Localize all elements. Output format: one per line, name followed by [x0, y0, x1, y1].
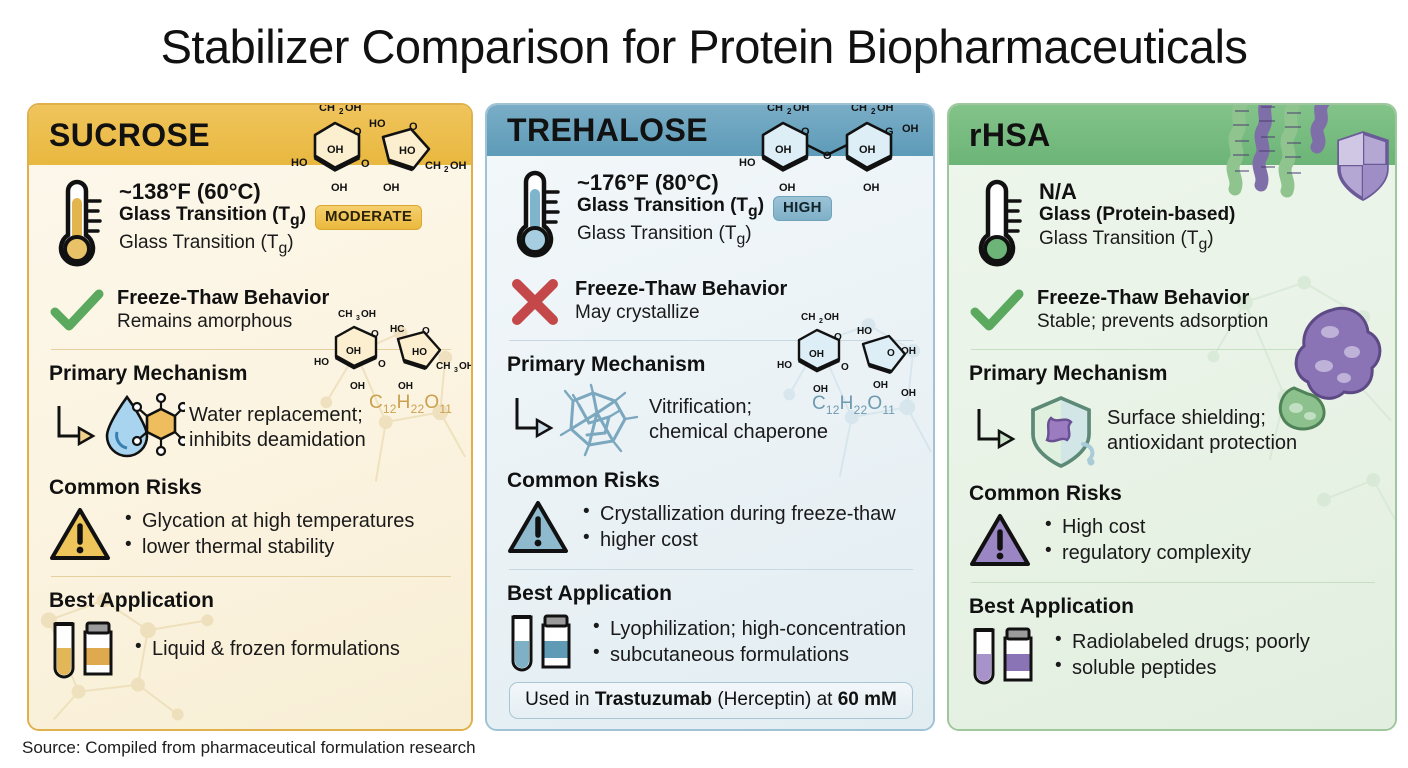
risks-row: Crystallization during freeze-thaw highe… [507, 499, 915, 555]
svg-text:CH: CH [851, 103, 867, 114]
svg-text:OH: OH [793, 103, 810, 114]
water-drop-sugar-icon [101, 392, 185, 464]
application-list: Radiolabeled drugs; poorly soluble pepti… [1055, 629, 1310, 681]
glass-transition-sublabel: Glass Transition (Tg) [119, 231, 453, 259]
glass-transition-label: Glass Transition (Tg) [577, 195, 764, 222]
mechanism-heading: Primary Mechanism [49, 362, 453, 386]
status-badge: MODERATE [315, 205, 422, 230]
svg-text:G: G [885, 126, 894, 138]
card-rhsa: rHSA [947, 103, 1397, 731]
svg-text:OH: OH [327, 144, 344, 156]
glass-transition-sublabel: Glass Transition (Tg) [1039, 227, 1377, 255]
check-icon [49, 287, 105, 335]
mechanism-line-2: inhibits deamidation [189, 428, 366, 453]
callout-drug-name: Trastuzumab [595, 689, 712, 710]
glass-transition-row: N/A Glass (Protein-based) Glass Transiti… [969, 179, 1377, 271]
svg-text:OH: OH [345, 103, 362, 114]
card-header-trehalose: TREHALOSE CH2OH CH2OH OGOH OHOH HOO OHOH [487, 105, 933, 156]
card-title: TREHALOSE [507, 112, 708, 149]
glass-transition-value: ~138°F (60°C) [119, 179, 453, 204]
glass-transition-label-row: Glass (Protein-based) [1039, 204, 1377, 227]
mechanism-line-1: Surface shielding; [1107, 406, 1297, 431]
application-list: Lyophilization; high-concentration subcu… [593, 616, 906, 668]
list-item-continuation: subcutaneous formulations [593, 642, 906, 668]
section-divider [51, 576, 451, 577]
check-icon [969, 287, 1025, 335]
freeze-thaw-desc: Stable; prevents adsorption [1037, 310, 1377, 334]
list-item: regulatory complexity [1045, 540, 1251, 566]
callout-prefix: Used in [525, 689, 595, 710]
card-title: SUCROSE [49, 117, 210, 154]
shield-protein-icon [1021, 392, 1103, 470]
svg-text:CH: CH [319, 103, 335, 114]
mechanism-line-1: Water replacement; [189, 403, 366, 428]
callout-middle: (Herceptin) at [712, 689, 838, 710]
mechanism-line-2: chemical chaperone [649, 420, 828, 445]
glass-transition-row: ~176°F (80°C) Glass Transition (Tg) HIGH… [507, 170, 915, 262]
chemical-formula: C12H22O11 [812, 393, 895, 417]
mechanism-line-1: Vitrification; [649, 395, 828, 420]
card-body-sucrose: ~138°F (60°C) Glass Transition (Tg) MODE… [29, 165, 471, 729]
section-divider [51, 349, 451, 350]
mechanism-text: Vitrification; chemical chaperone [649, 395, 828, 445]
application-heading: Best Application [507, 582, 915, 606]
card-body-rhsa: N/A Glass (Protein-based) Glass Transiti… [949, 165, 1395, 729]
freeze-thaw-title: Freeze-Thaw Behavior [575, 278, 915, 301]
freeze-thaw-row: Freeze-Thaw Behavior Stable; prevents ad… [969, 287, 1377, 335]
list-item: Radiolabeled drugs; poorly [1055, 629, 1310, 655]
list-item: Liquid & frozen formulations [135, 636, 400, 662]
svg-text:OH: OH [859, 144, 876, 156]
arrow-icon [49, 398, 97, 458]
list-item: higher cost [583, 527, 896, 553]
list-item: Lyophilization; high-concentration [593, 616, 906, 642]
card-title: rHSA [969, 117, 1051, 154]
warning-icon [969, 512, 1031, 568]
vial-tube-icon [49, 618, 119, 680]
risks-list: Glycation at high temperatures lower the… [125, 508, 414, 560]
thermometer-icon [969, 179, 1027, 271]
svg-text:HO: HO [399, 145, 416, 157]
vial-tube-icon [507, 611, 577, 673]
card-body-trehalose: ~176°F (80°C) Glass Transition (Tg) HIGH… [487, 156, 933, 729]
arrow-icon [507, 390, 555, 450]
svg-text:2: 2 [339, 107, 344, 116]
application-row: Lyophilization; high-concentration subcu… [507, 611, 915, 673]
glass-transition-value: ~176°F (80°C) [577, 170, 915, 195]
warning-icon [49, 506, 111, 562]
glass-transition-label: Glass Transition (Tg) [119, 204, 306, 231]
glass-transition-sublabel: Glass Transition (Tg) [577, 222, 915, 250]
freeze-thaw-row: Freeze-Thaw Behavior May crystallize [507, 278, 915, 326]
glass-matrix-icon [559, 383, 645, 457]
svg-text:HO: HO [369, 118, 386, 130]
glass-transition-value: N/A [1039, 179, 1377, 204]
risks-heading: Common Risks [507, 469, 915, 493]
svg-text:OH: OH [877, 103, 894, 114]
mechanism-text: Water replacement; inhibits deamidation [189, 403, 366, 453]
section-divider [509, 569, 913, 570]
glass-transition-label-row: Glass Transition (Tg) MODERATE [119, 204, 453, 231]
section-divider [509, 340, 913, 341]
thermometer-icon [49, 179, 107, 271]
svg-text:OH: OH [902, 123, 919, 135]
svg-text:O: O [801, 126, 810, 138]
card-header-rhsa: rHSA [949, 105, 1395, 165]
application-heading: Best Application [969, 595, 1377, 619]
svg-text:2: 2 [787, 107, 792, 116]
glass-transition-label: Glass (Protein-based) [1039, 204, 1235, 227]
cross-icon [507, 278, 563, 326]
source-note: Source: Compiled from pharmaceutical for… [22, 738, 476, 758]
freeze-thaw-title: Freeze-Thaw Behavior [117, 287, 453, 310]
glass-transition-label-row: Glass Transition (Tg) HIGH [577, 195, 915, 222]
comparison-cards: SUCROSE CH2OH O HO O OH HO HO [27, 103, 1397, 731]
svg-text:CH: CH [767, 103, 783, 114]
application-heading: Best Application [49, 589, 453, 613]
risks-heading: Common Risks [969, 482, 1377, 506]
card-header-sucrose: SUCROSE CH2OH O HO O OH HO HO [29, 105, 471, 165]
risks-list: High cost regulatory complexity [1045, 514, 1251, 566]
mechanism-heading: Primary Mechanism [969, 362, 1377, 386]
svg-text:OH: OH [775, 144, 792, 156]
risks-row: High cost regulatory complexity [969, 512, 1377, 568]
mechanism-line-2: antioxidant protection [1107, 431, 1297, 456]
list-item: High cost [1045, 514, 1251, 540]
list-item: Crystallization during freeze-thaw [583, 501, 896, 527]
freeze-thaw-desc: Remains amorphous [117, 310, 453, 334]
vial-tube-icon [969, 624, 1039, 686]
list-item-continuation: soluble peptides [1055, 655, 1310, 681]
mechanism-row: Surface shielding; antioxidant protectio… [969, 392, 1377, 470]
status-badge: HIGH [773, 196, 832, 221]
list-item: lower thermal stability [125, 534, 414, 560]
list-item: Glycation at high temperatures [125, 508, 414, 534]
section-divider [971, 349, 1375, 350]
freeze-thaw-desc: May crystallize [575, 301, 915, 325]
chemical-formula: C12H22O11 [369, 392, 452, 416]
mechanism-text: Surface shielding; antioxidant protectio… [1107, 406, 1297, 456]
page-title: Stabilizer Comparison for Protein Biopha… [0, 0, 1408, 71]
svg-text:O: O [409, 121, 418, 133]
mechanism-heading: Primary Mechanism [507, 353, 915, 377]
thermometer-icon [507, 170, 565, 262]
drug-usage-callout: Used in Trastuzumab (Herceptin) at 60 mM [509, 682, 913, 719]
freeze-thaw-title: Freeze-Thaw Behavior [1037, 287, 1377, 310]
risks-row: Glycation at high temperatures lower the… [49, 506, 453, 562]
risks-list: Crystallization during freeze-thaw highe… [583, 501, 896, 553]
svg-text:2: 2 [871, 107, 876, 116]
section-divider [971, 582, 1375, 583]
risks-heading: Common Risks [49, 476, 453, 500]
card-sucrose: SUCROSE CH2OH O HO O OH HO HO [27, 103, 473, 731]
callout-concentration: 60 mM [838, 689, 897, 710]
warning-icon [507, 499, 569, 555]
glass-transition-row: ~138°F (60°C) Glass Transition (Tg) MODE… [49, 179, 453, 271]
application-list: Liquid & frozen formulations [135, 636, 400, 662]
arrow-icon [969, 401, 1017, 461]
svg-text:O: O [353, 126, 362, 138]
freeze-thaw-row: Freeze-Thaw Behavior Remains amorphous [49, 287, 453, 335]
application-row: Liquid & frozen formulations [49, 618, 453, 680]
card-trehalose: TREHALOSE CH2OH CH2OH OGOH OHOH HOO OHOH [485, 103, 935, 731]
application-row: Radiolabeled drugs; poorly soluble pepti… [969, 624, 1377, 686]
